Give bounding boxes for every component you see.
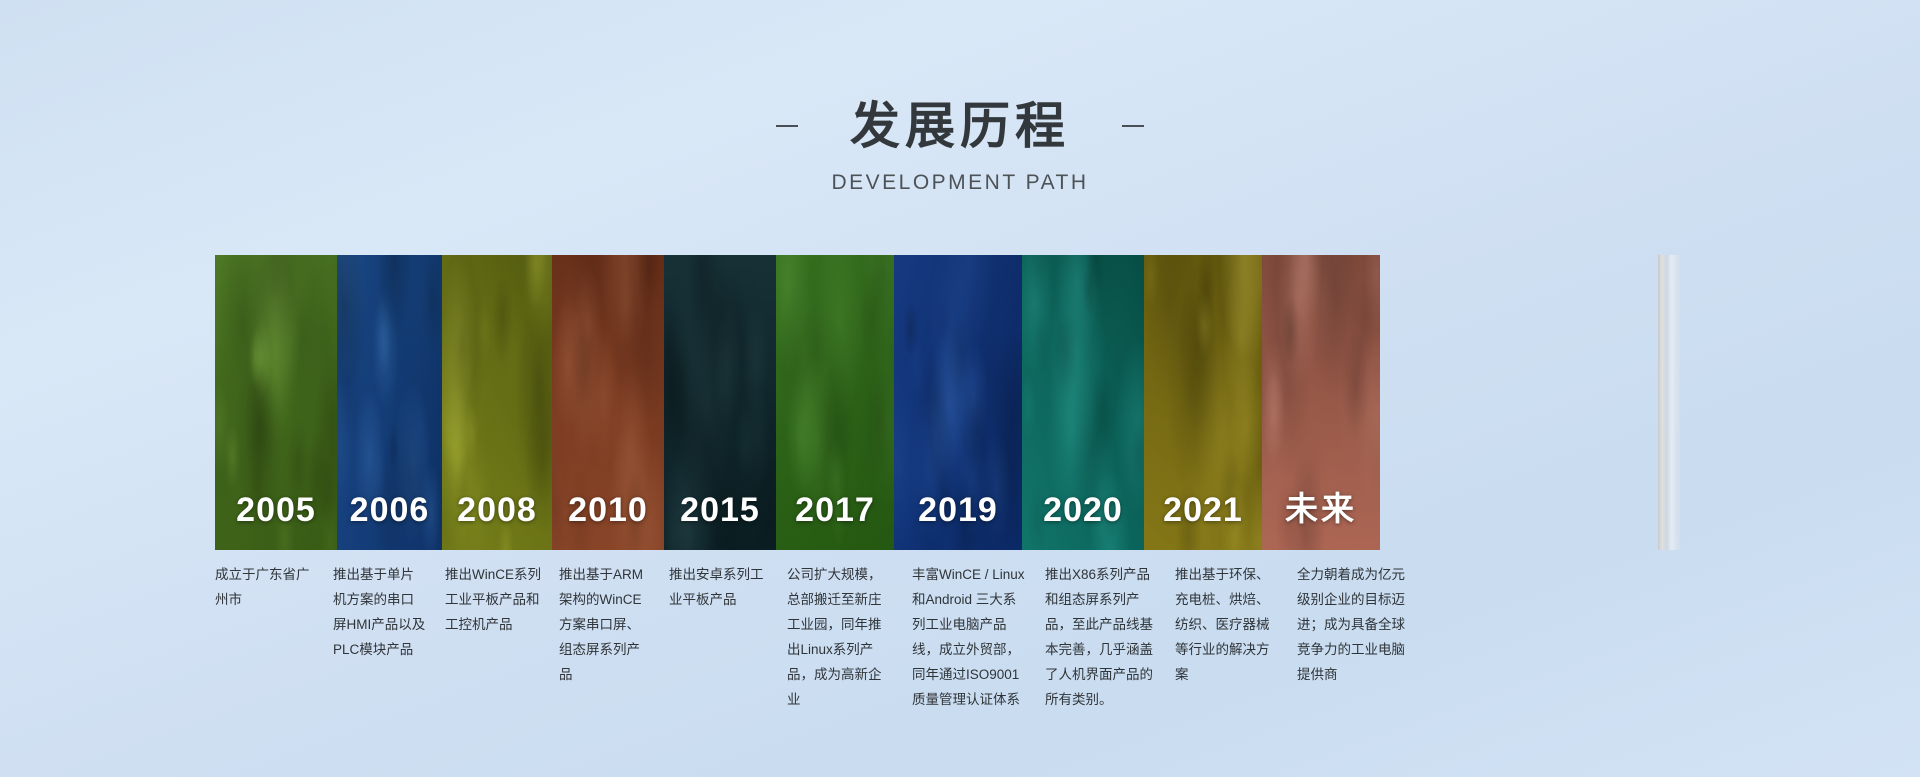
timeline-description: 推出WinCE系列工业平板产品和工控机产品 — [445, 562, 559, 712]
timeline-panel[interactable]: 2015 — [664, 255, 776, 550]
timeline-description-text: 全力朝着成为亿元级别企业的目标迈进；成为具备全球竞争力的工业电脑提供商 — [1297, 562, 1407, 687]
timeline-description: 推出基于单片机方案的串口屏HMI产品以及PLC模块产品 — [333, 562, 445, 712]
page-title: 发展历程 — [850, 95, 1070, 157]
timeline-edge-strip — [1658, 255, 1680, 550]
timeline-description-text: 成立于广东省广州市 — [215, 562, 315, 612]
timeline-year-label: 2010 — [552, 491, 664, 530]
timeline-panel[interactable]: 2020 — [1022, 255, 1144, 550]
timeline-description: 丰富WinCE / Linux和Android 三大系列工业电脑产品线，成立外贸… — [912, 562, 1045, 712]
timeline-panel[interactable]: 2005 — [215, 255, 337, 550]
timeline-description-text: 推出WinCE系列工业平板产品和工控机产品 — [445, 562, 541, 637]
timeline-description: 推出基于ARM架构的WinCE方案串口屏、组态屏系列产品 — [559, 562, 669, 712]
timeline-year-label: 2021 — [1144, 491, 1262, 530]
timeline-description: 公司扩大规模，总部搬迁至新庄工业园，同年推出Linux系列产品，成为高新企业 — [787, 562, 912, 712]
timeline-year-label: 2008 — [442, 491, 552, 530]
timeline-year-label: 2005 — [215, 491, 337, 530]
timeline-description-text: 推出基于ARM架构的WinCE方案串口屏、组态屏系列产品 — [559, 562, 651, 687]
timeline-year-label: 2017 — [776, 491, 894, 530]
page-subtitle: DEVELOPMENT PATH — [0, 171, 1920, 195]
timeline-year-label: 2019 — [894, 491, 1022, 530]
timeline-description-text: 推出X86系列产品和组态屏系列产品，至此产品线基本完善，几乎涵盖了人机界面产品的… — [1045, 562, 1157, 712]
timeline-year-label: 未来 — [1262, 482, 1380, 530]
timeline-panel[interactable]: 2021 — [1144, 255, 1262, 550]
timeline-description-text: 丰富WinCE / Linux和Android 三大系列工业电脑产品线，成立外贸… — [912, 562, 1027, 712]
timeline-description: 成立于广东省广州市 — [215, 562, 333, 712]
timeline-description: 推出安卓系列工业平板产品 — [669, 562, 787, 712]
timeline-year-label: 2020 — [1022, 491, 1144, 530]
timeline-description-text: 推出基于环保、充电桩、烘焙、纺织、医疗器械等行业的解决方案 — [1175, 562, 1279, 687]
title-row: 发展历程 — [0, 95, 1920, 157]
timeline-panel[interactable]: 2010 — [552, 255, 664, 550]
right-dash-icon — [1122, 125, 1144, 127]
timeline-strip: 200520062008201020152017201920202021未来 — [215, 255, 1685, 550]
timeline-description: 推出X86系列产品和组态屏系列产品，至此产品线基本完善，几乎涵盖了人机界面产品的… — [1045, 562, 1175, 712]
timeline-year-label: 2015 — [664, 491, 776, 530]
timeline-panel[interactable]: 未来 — [1262, 255, 1380, 550]
timeline-panel[interactable]: 2008 — [442, 255, 552, 550]
timeline-panel[interactable]: 2019 — [894, 255, 1022, 550]
timeline-year-label: 2006 — [337, 491, 442, 530]
left-dash-icon — [776, 125, 798, 127]
timeline-description: 全力朝着成为亿元级别企业的目标迈进；成为具备全球竞争力的工业电脑提供商 — [1297, 562, 1425, 712]
timeline-panel[interactable]: 2017 — [776, 255, 894, 550]
timeline-panel[interactable]: 2006 — [337, 255, 442, 550]
timeline-description-text: 推出安卓系列工业平板产品 — [669, 562, 769, 612]
page-header: 发展历程 DEVELOPMENT PATH — [0, 0, 1920, 195]
timeline-description: 推出基于环保、充电桩、烘焙、纺织、医疗器械等行业的解决方案 — [1175, 562, 1297, 712]
timeline-description-text: 推出基于单片机方案的串口屏HMI产品以及PLC模块产品 — [333, 562, 427, 662]
timeline-description-text: 公司扩大规模，总部搬迁至新庄工业园，同年推出Linux系列产品，成为高新企业 — [787, 562, 894, 712]
timeline-descriptions: 成立于广东省广州市推出基于单片机方案的串口屏HMI产品以及PLC模块产品推出Wi… — [215, 562, 1685, 712]
